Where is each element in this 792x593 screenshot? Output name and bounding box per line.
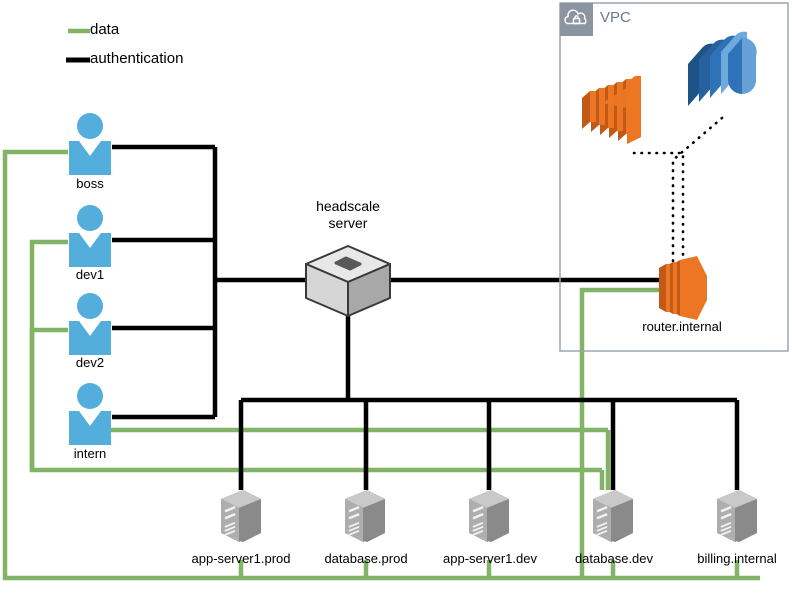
user-icon-intern — [69, 383, 111, 445]
dotted-link-orange-router — [634, 153, 683, 265]
user-label-dev1: dev1 — [50, 267, 130, 282]
server-label-billing-internal: billing.internal — [667, 551, 792, 566]
server-icon-app-server1-dev — [469, 490, 509, 542]
server-icon-app-server1-prod — [221, 490, 261, 542]
vpc-dotted-links — [634, 118, 722, 265]
aws-router-icon — [659, 256, 707, 320]
user-icon-boss — [69, 113, 111, 175]
legend-label-authentication: authentication — [90, 50, 183, 67]
user-label-intern: intern — [50, 446, 130, 461]
aws-blue-stack-icon — [688, 32, 757, 106]
cube-server-icon — [306, 246, 390, 316]
server-icon-billing-internal — [717, 490, 757, 542]
user-label-boss: boss — [50, 176, 130, 191]
dotted-link-blue-router — [673, 118, 722, 265]
headscale-label-line2: server — [288, 215, 408, 232]
server-label-database-dev: database.dev — [544, 551, 684, 566]
user-icon-dev1 — [69, 205, 111, 267]
legend-label-data: data — [90, 21, 119, 38]
legend — [66, 31, 90, 60]
headscale-label-line1: headscale — [288, 198, 408, 215]
user-label-dev2: dev2 — [50, 355, 130, 370]
server-label-database-prod: database.prod — [296, 551, 436, 566]
server-label-app-server1-prod: app-server1.prod — [171, 551, 311, 566]
aws-orange-stack-icon — [582, 76, 641, 144]
user-icon-dev2 — [69, 293, 111, 355]
server-icon-database-prod — [345, 490, 385, 542]
network-diagram: data authentication VPC boss dev1 dev2 i… — [0, 0, 792, 593]
diagram-canvas — [0, 0, 792, 593]
vpc-title: VPC — [600, 9, 631, 26]
router-label: router.internal — [612, 319, 752, 334]
server-icon-database-dev — [593, 490, 633, 542]
server-label-app-server1-dev: app-server1.dev — [420, 551, 560, 566]
